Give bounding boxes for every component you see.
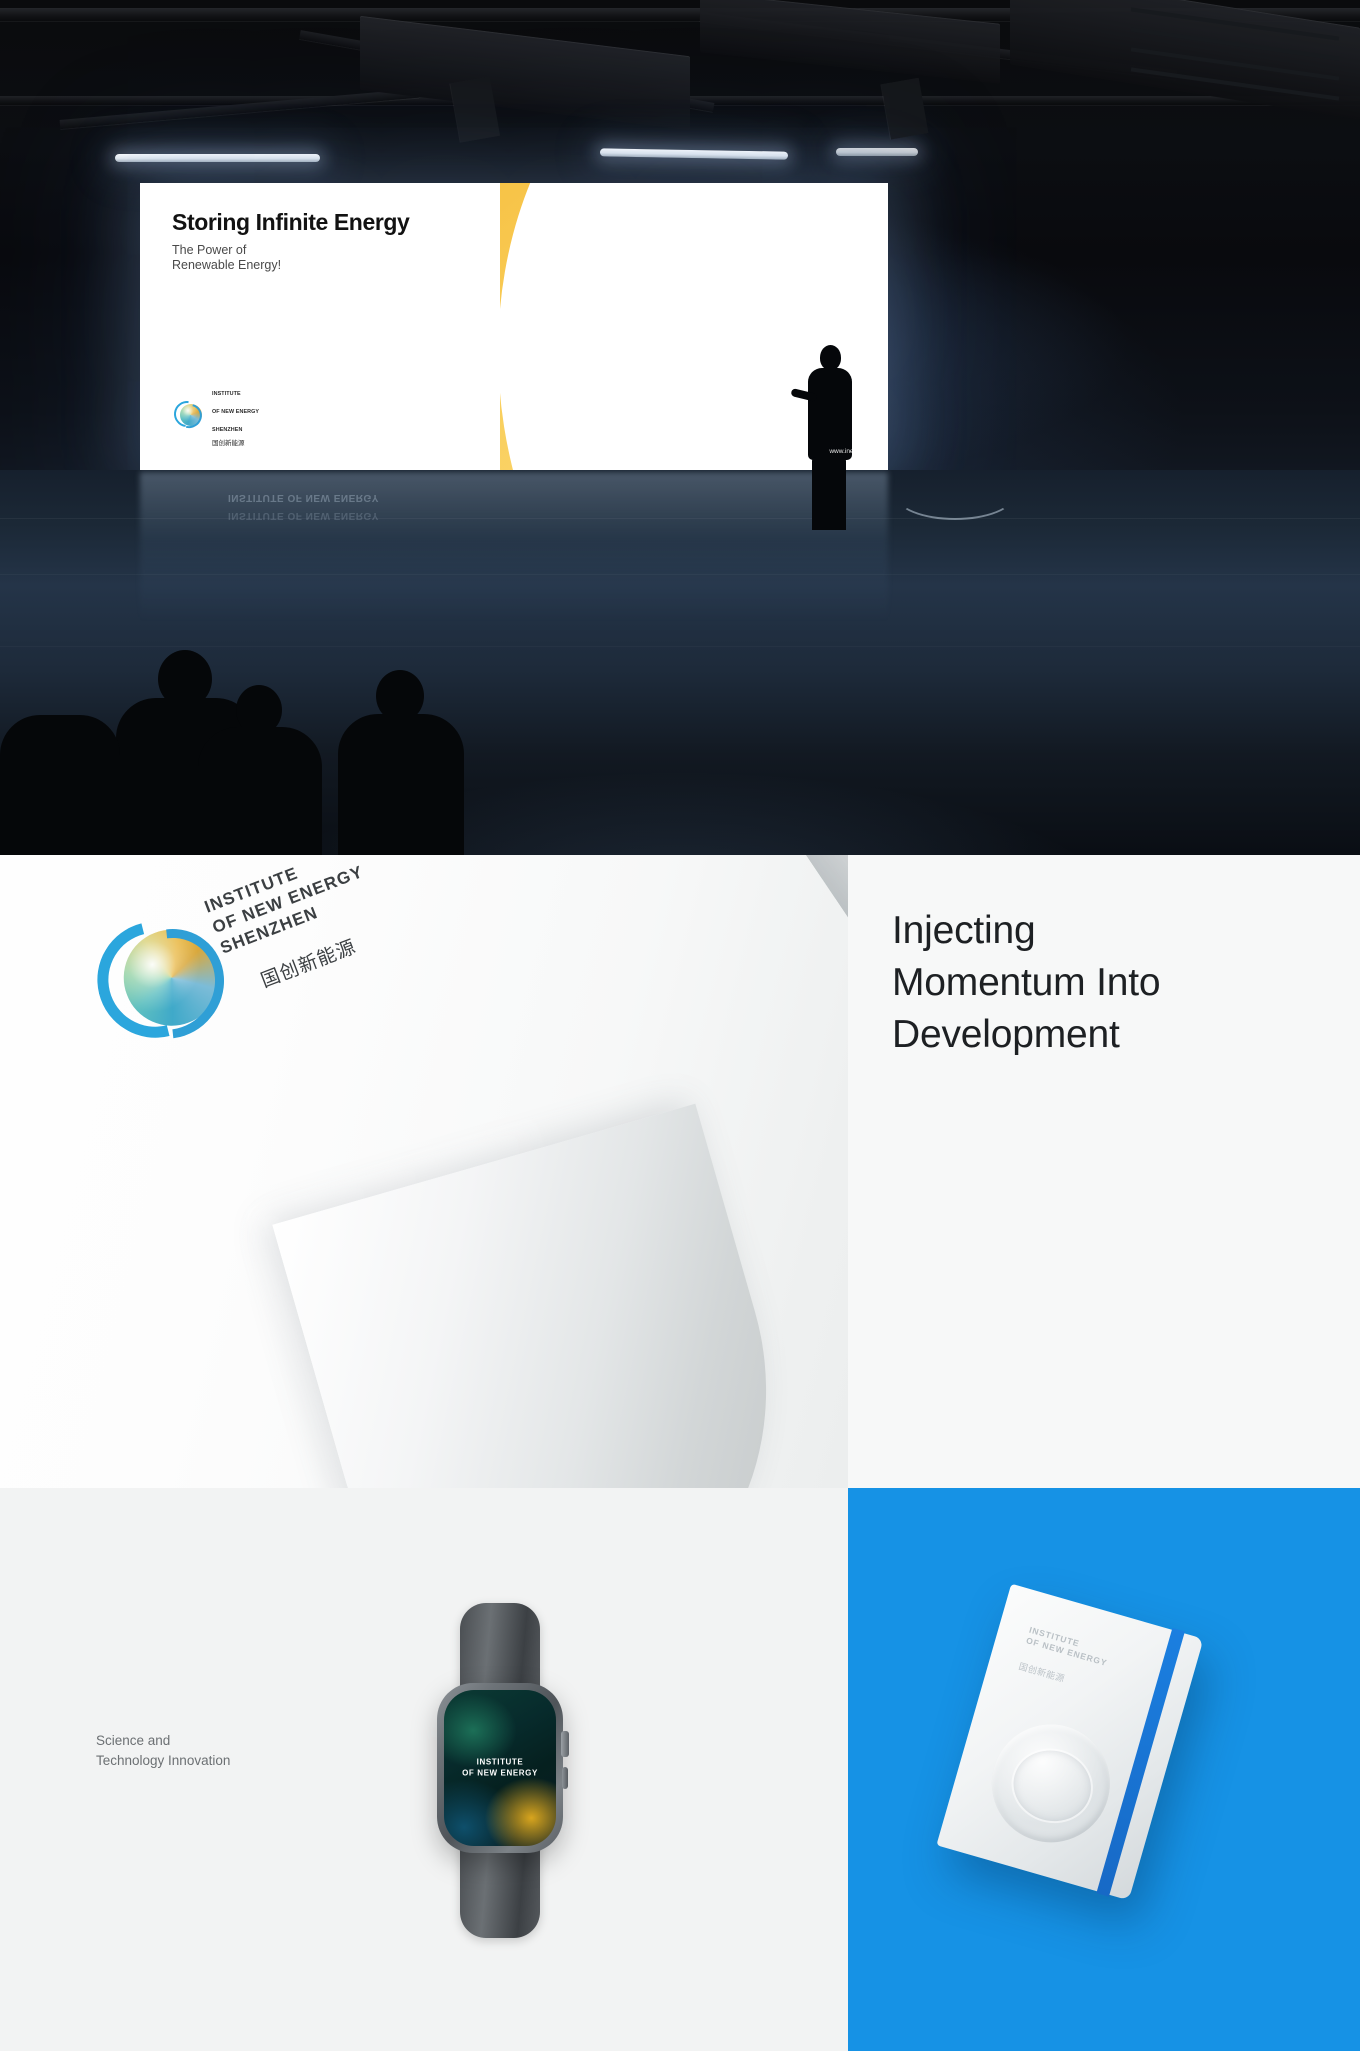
billboard-url: www.ines.org bbox=[829, 448, 868, 455]
floor-cable bbox=[895, 470, 1015, 520]
ceiling-duct bbox=[360, 16, 690, 131]
audience-silhouette bbox=[338, 670, 464, 855]
products-panel: Science and Technology Innovation INSTIT… bbox=[0, 1488, 1360, 2051]
watch-side-button-icon[interactable] bbox=[562, 1767, 568, 1789]
notebook-mockup-image: INSTITUTE OF NEW ENERGY 国创新能源 bbox=[848, 1488, 1360, 2051]
smartwatch: INSTITUTE OF NEW ENERGY bbox=[425, 1603, 575, 1938]
paper-mockup-image: INSTITUTE OF NEW ENERGY SHENZHEN 国创新能源 bbox=[0, 855, 848, 1488]
notebook-embossed-mark-icon bbox=[978, 1710, 1124, 1856]
reflection-text: INSTITUTE OF NEW ENERGY bbox=[228, 492, 379, 503]
presenter-silhouette bbox=[800, 345, 860, 530]
ceiling-light bbox=[115, 154, 320, 162]
paper-mockup-panel: INSTITUTE OF NEW ENERGY SHENZHEN 国创新能源 I… bbox=[0, 855, 1360, 1488]
audience-silhouette bbox=[196, 685, 326, 855]
ceiling-light bbox=[836, 148, 918, 156]
logo-chinese: 国创新能源 bbox=[212, 437, 259, 447]
ceiling-beam bbox=[60, 89, 419, 129]
notebook-elastic-band bbox=[1096, 1628, 1185, 1897]
notebook-wordmark: INSTITUTE OF NEW ENERGY bbox=[1025, 1625, 1112, 1669]
reflection-text: INSTITUTE OF NEW ENERGY bbox=[228, 510, 379, 521]
watch-screen[interactable]: INSTITUTE OF NEW ENERGY bbox=[444, 1690, 556, 1846]
products-caption: Science and Technology Innovation bbox=[96, 1731, 230, 1771]
billboard-logo-text: INSTITUTE OF NEW ENERGY SHENZHEN 国创新能源 bbox=[212, 382, 259, 447]
ceiling-light bbox=[600, 148, 788, 159]
notebook: INSTITUTE OF NEW ENERGY 国创新能源 bbox=[936, 1584, 1203, 1901]
watch-crown-icon[interactable] bbox=[561, 1731, 569, 1757]
billboard-hall-panel: Storing Infinite Energy The Power of Ren… bbox=[0, 0, 1360, 855]
billboard-logo: INSTITUTE OF NEW ENERGY SHENZHEN 国创新能源 bbox=[174, 382, 259, 447]
headline-text: Injecting Momentum Into Development bbox=[892, 905, 1160, 1061]
watch-mockup-image: Science and Technology Innovation INSTIT… bbox=[0, 1488, 848, 2051]
logo-wordmark: INSTITUTE OF NEW ENERGY SHENZHEN bbox=[212, 391, 259, 433]
brand-mark-icon bbox=[174, 400, 204, 430]
ceiling-hanger bbox=[881, 78, 928, 140]
billboard-screen[interactable]: Storing Infinite Energy The Power of Ren… bbox=[140, 183, 888, 471]
billboard-title: Storing Infinite Energy bbox=[172, 209, 409, 236]
headline-block: Injecting Momentum Into Development bbox=[848, 855, 1360, 1488]
watch-case: INSTITUTE OF NEW ENERGY bbox=[437, 1683, 563, 1853]
audience-silhouette bbox=[0, 705, 120, 855]
notebook-chinese: 国创新能源 bbox=[1017, 1659, 1066, 1685]
billboard-subtitle: The Power of Renewable Energy! bbox=[172, 243, 281, 273]
watch-face-text: INSTITUTE OF NEW ENERGY bbox=[444, 1758, 556, 1779]
